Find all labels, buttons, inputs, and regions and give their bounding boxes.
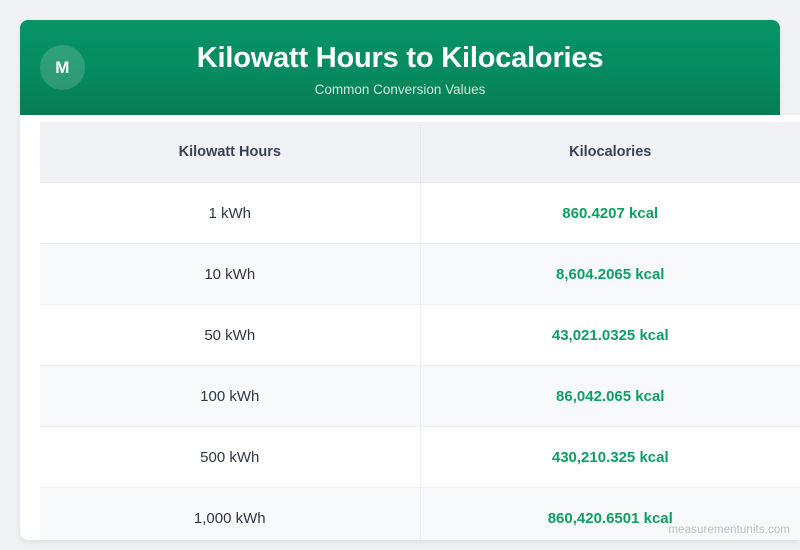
table-row: 50 kWh 43,021.0325 kcal [40, 305, 800, 366]
cell-from-value: 1,000 kWh [40, 488, 420, 541]
header-titles: Kilowatt Hours to Kilocalories Common Co… [20, 38, 780, 100]
table-row: 10 kWh 8,604.2065 kcal [40, 244, 800, 305]
table-row: 1 kWh 860.4207 kcal [40, 183, 800, 244]
header-inner: M Kilowatt Hours to Kilocalories Common … [20, 20, 780, 115]
page-title: Kilowatt Hours to Kilocalories [20, 38, 780, 78]
cell-to-value: 430,210.325 kcal [420, 427, 800, 488]
page-subtitle: Common Conversion Values [20, 80, 780, 100]
column-header-kilocalories: Kilocalories [420, 122, 800, 183]
table-body: 1 kWh 860.4207 kcal 10 kWh 8,604.2065 kc… [40, 183, 800, 541]
cell-to-value: 86,042.065 kcal [420, 366, 800, 427]
cell-to-value: 860.4207 kcal [420, 183, 800, 244]
conversion-table-page: M Kilowatt Hours to Kilocalories Common … [0, 0, 800, 550]
table-head: Kilowatt Hours Kilocalories [40, 122, 800, 183]
table-row: 100 kWh 86,042.065 kcal [40, 366, 800, 427]
cell-to-value: 43,021.0325 kcal [420, 305, 800, 366]
table-header-row: Kilowatt Hours Kilocalories [40, 122, 800, 183]
cell-from-value: 10 kWh [40, 244, 420, 305]
page-header-banner: M Kilowatt Hours to Kilocalories Common … [20, 20, 780, 115]
conversion-table-container: Kilowatt Hours Kilocalories 1 kWh 860.42… [40, 122, 800, 540]
cell-to-value: 860,420.6501 kcal [420, 488, 800, 541]
cell-from-value: 100 kWh [40, 366, 420, 427]
table-row: 500 kWh 430,210.325 kcal [40, 427, 800, 488]
cell-from-value: 50 kWh [40, 305, 420, 366]
table-row: 1,000 kWh 860,420.6501 kcal [40, 488, 800, 541]
cell-to-value: 8,604.2065 kcal [420, 244, 800, 305]
cell-from-value: 500 kWh [40, 427, 420, 488]
cell-from-value: 1 kWh [40, 183, 420, 244]
column-header-kilowatt-hours: Kilowatt Hours [40, 122, 420, 183]
conversion-table: Kilowatt Hours Kilocalories 1 kWh 860.42… [40, 122, 800, 540]
